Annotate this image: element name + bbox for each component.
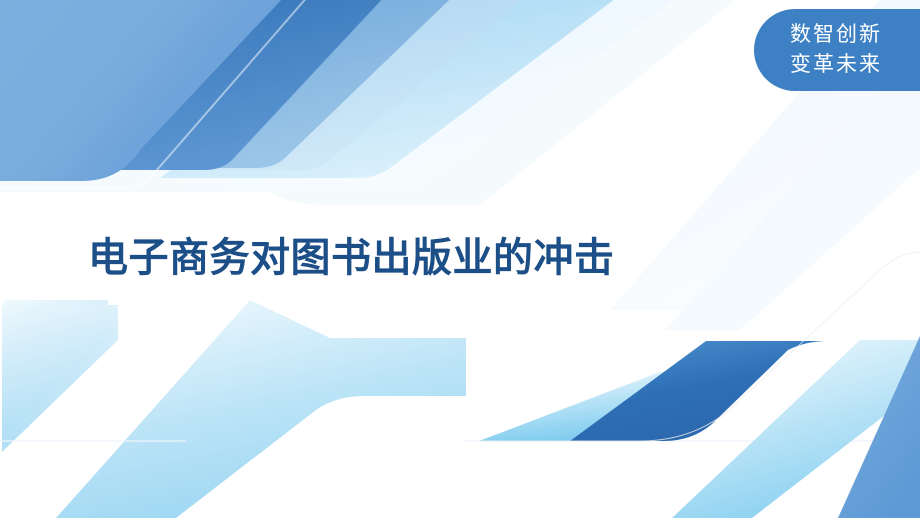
page-title: 电子商务对图书出版业的冲击: [88, 232, 615, 284]
slide-canvas: 数智创新 变革未来 电子商务对图书出版业的冲击: [0, 0, 920, 518]
badge-slogan: 数智创新 变革未来: [754, 9, 920, 91]
badge-line-1: 数智创新: [790, 20, 882, 50]
badge-line-2: 变革未来: [790, 50, 882, 80]
